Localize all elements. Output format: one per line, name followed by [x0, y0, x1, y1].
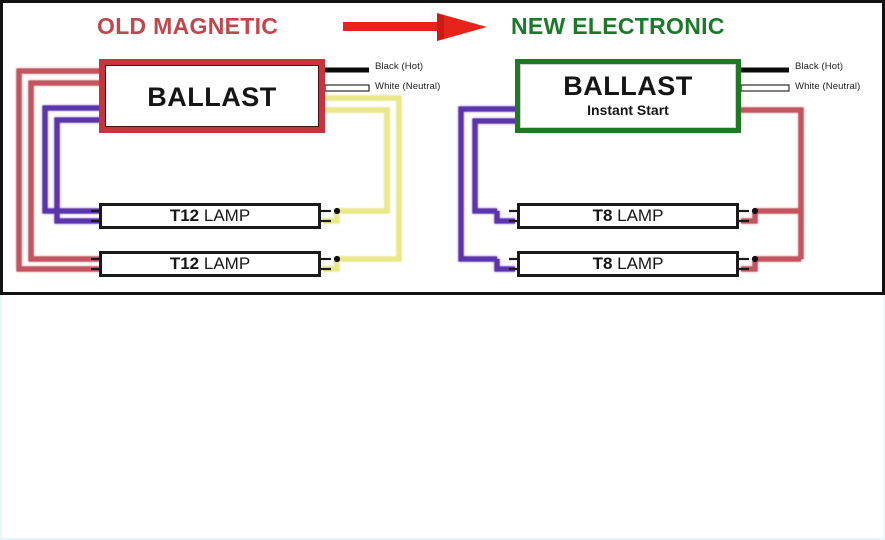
new-electronic-ballast-box: BALLAST Instant Start — [515, 59, 741, 133]
new-white-neutral-label: White (Neutral) — [795, 81, 860, 92]
new-junction-dot-bottom — [752, 256, 758, 262]
lamp-old-1-type: T12 — [170, 206, 199, 225]
lamp-old-1-word: LAMP — [204, 206, 250, 225]
new-supply-leads — [741, 70, 789, 91]
new-purple-jumper-top — [497, 211, 515, 221]
old-yellow-wire-group — [323, 98, 399, 269]
old-magnetic-ballast-box: BALLAST — [99, 59, 325, 133]
lamp-new-2-type: T8 — [593, 254, 613, 273]
old-purple-wire-outer — [45, 108, 103, 211]
lamp-old-2-word: LAMP — [204, 254, 250, 273]
lamp-tube-old-2: T12 LAMP — [99, 251, 321, 277]
empty-content-panel — [0, 296, 885, 540]
old-red-wire-group — [19, 71, 103, 269]
lamp-new-2-label: T8 LAMP — [593, 254, 664, 274]
new-purple-wire-outer — [461, 109, 519, 259]
lamp-old-1-label: T12 LAMP — [170, 206, 250, 226]
new-white-lead — [741, 85, 789, 91]
old-purple-wire-group — [45, 108, 103, 221]
lamp-tube-new-2: T8 LAMP — [517, 251, 739, 277]
new-red-wire-group — [739, 110, 801, 269]
old-white-lead — [325, 85, 369, 91]
lamp-old-2-type: T12 — [170, 254, 199, 273]
lamp-new-1-word: LAMP — [617, 206, 663, 225]
new-electronic-title: NEW ELECTRONIC — [511, 13, 725, 40]
new-ballast-sublabel: Instant Start — [587, 103, 669, 117]
old-ballast-label: BALLAST — [147, 84, 276, 111]
right-arrow-icon — [343, 13, 487, 41]
new-red-wire-trunk — [739, 110, 801, 259]
new-purple-wire-group — [461, 109, 519, 269]
old-yellow-wire-top — [323, 110, 387, 211]
lamp-new-1-label: T8 LAMP — [593, 206, 664, 226]
old-magnetic-title: OLD MAGNETIC — [97, 13, 278, 40]
lamp-tube-old-1: T12 LAMP — [99, 203, 321, 229]
screenshot-root: OLD MAGNETIC NEW ELECTRONIC BALLAST BALL… — [0, 0, 885, 540]
new-purple-wire-inner — [475, 121, 519, 211]
new-purple-jumper-bottom — [497, 259, 515, 269]
old-junction-dot-top — [334, 208, 340, 214]
new-black-hot-label: Black (Hot) — [795, 61, 843, 72]
new-ballast-label: BALLAST — [563, 73, 692, 100]
old-black-hot-label: Black (Hot) — [375, 61, 423, 72]
ballast-wiring-diagram: OLD MAGNETIC NEW ELECTRONIC BALLAST BALL… — [0, 0, 885, 295]
lamp-new-1-type: T8 — [593, 206, 613, 225]
lamp-old-2-label: T12 LAMP — [170, 254, 250, 274]
new-junction-dot-top — [752, 208, 758, 214]
old-junction-dot-bottom — [334, 256, 340, 262]
lamp-tube-new-1: T8 LAMP — [517, 203, 739, 229]
old-supply-leads — [325, 70, 369, 91]
old-purple-wire-inner — [57, 120, 103, 221]
old-white-neutral-label: White (Neutral) — [375, 81, 440, 92]
lamp-new-2-word: LAMP — [617, 254, 663, 273]
